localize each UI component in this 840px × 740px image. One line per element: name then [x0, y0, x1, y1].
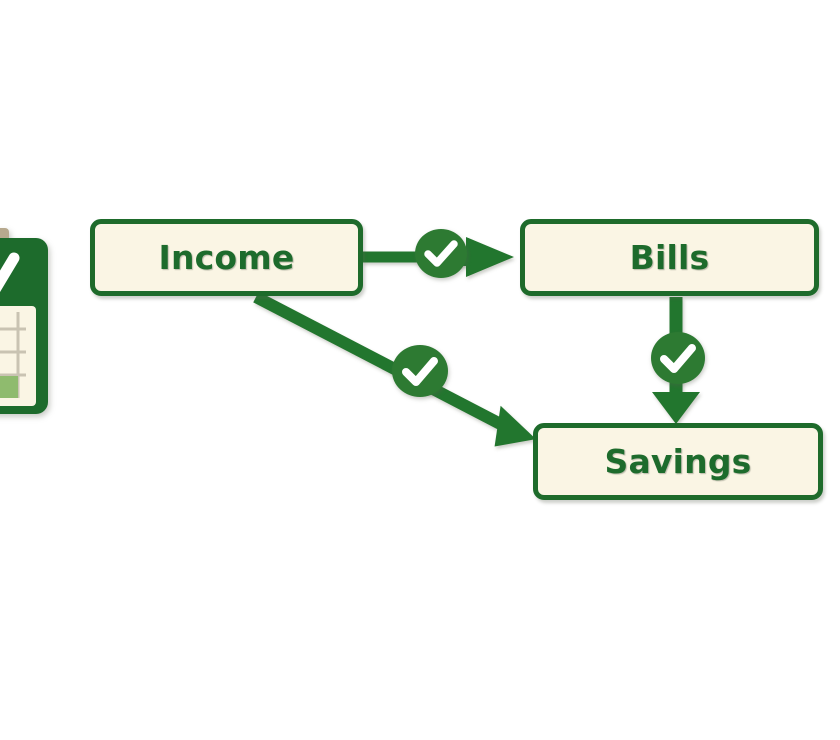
node-savings[interactable]: Savings: [533, 423, 823, 500]
clipboard-spreadsheet-icon[interactable]: [0, 228, 50, 418]
check-circle-icon[interactable]: [391, 344, 449, 398]
clipboard-highlight-cell: [0, 376, 18, 398]
node-bills[interactable]: Bills: [520, 219, 819, 296]
check-circle-icon[interactable]: [414, 228, 468, 279]
node-income-label: Income: [159, 238, 295, 277]
node-bills-label: Bills: [630, 238, 710, 277]
node-savings-label: Savings: [604, 442, 751, 481]
node-income[interactable]: Income: [90, 219, 363, 296]
diagram-canvas: Income Bills Savings: [0, 0, 840, 740]
check-circle-icon[interactable]: [650, 331, 706, 385]
